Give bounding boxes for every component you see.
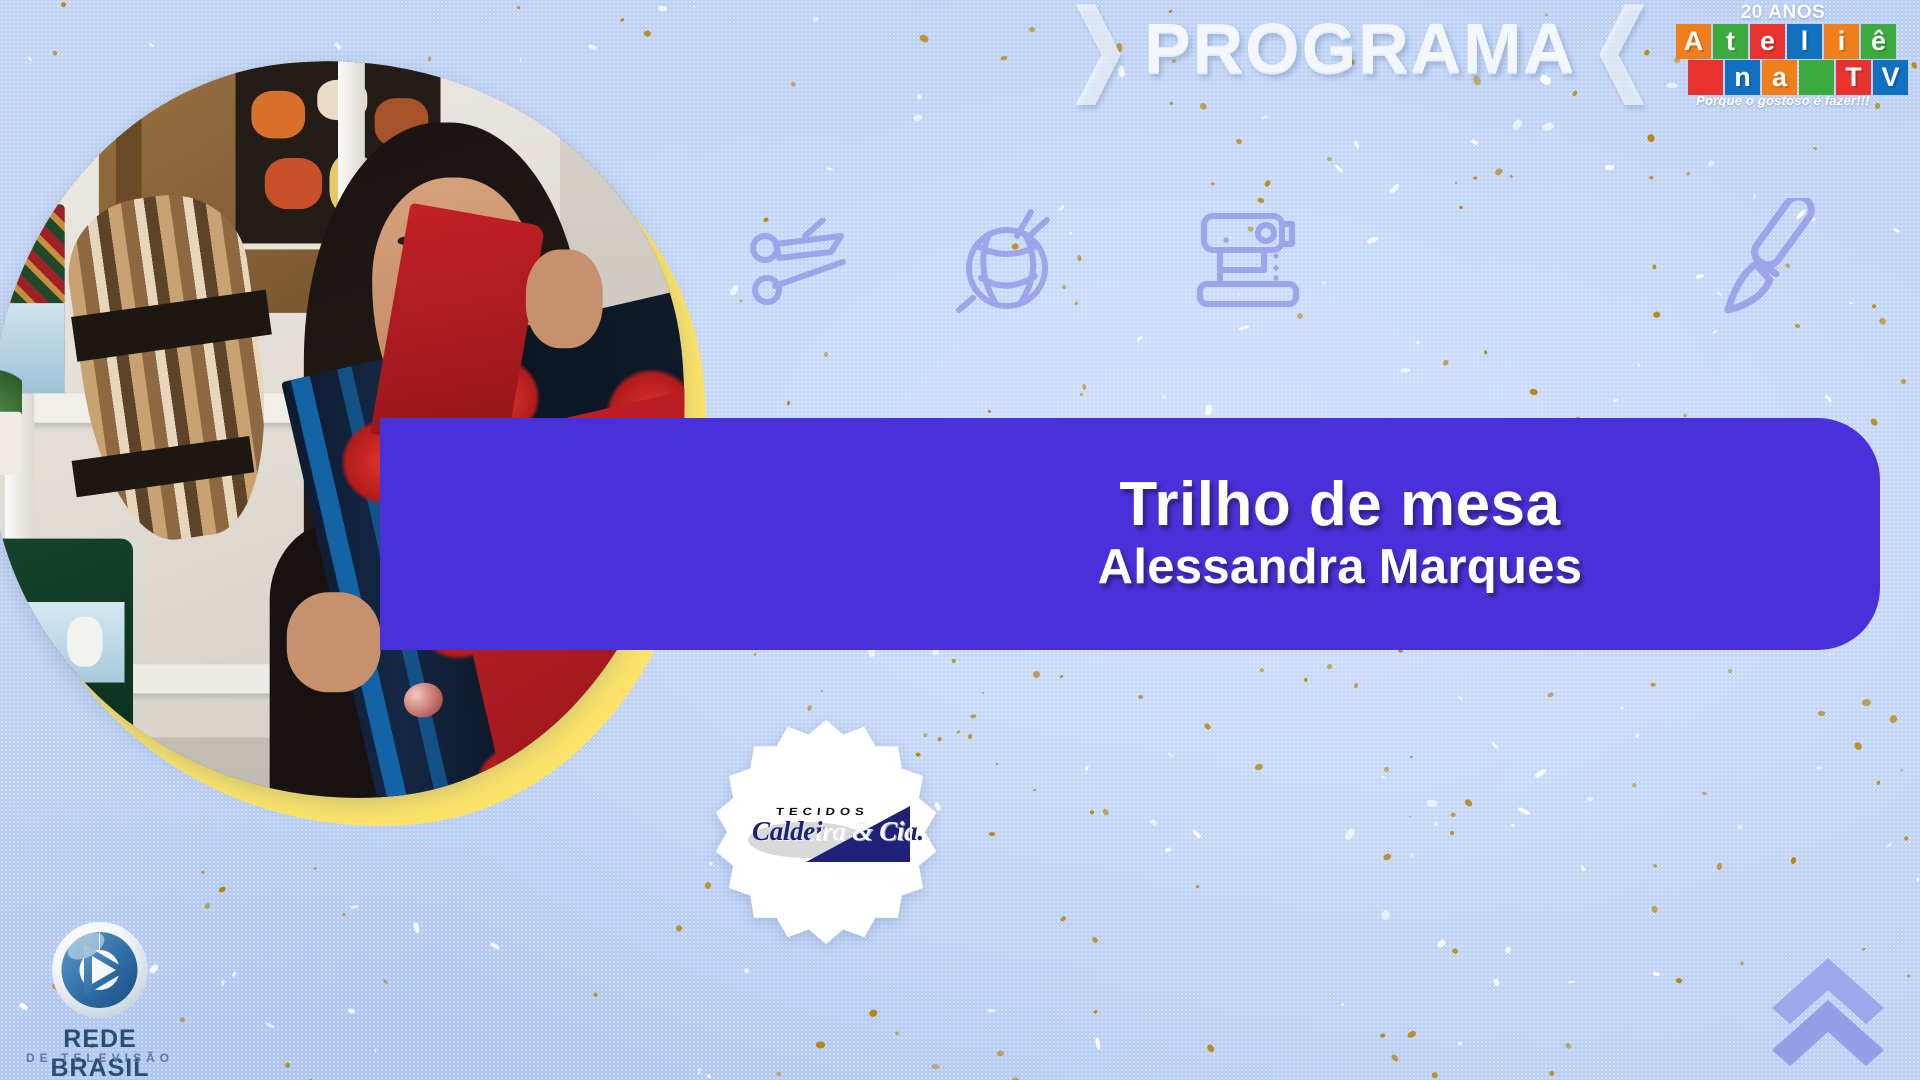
rede-brasil-logo: REDE BRASIL DE TELEVISÃO (10, 920, 210, 1070)
chevron-double-up-icon (1758, 952, 1898, 1072)
logo-tile-row2-2: a (1762, 60, 1797, 95)
slide-canvas: ❯ PROGRAMA ❮ 20 ANOS Ateliê naTV Porque … (0, 0, 1920, 1080)
title-banner: Trilho de mesa Alessandra Marques (380, 418, 1880, 650)
logo-tagline: Porque o gostoso é fazer!!! (1658, 93, 1908, 108)
logo-tile-row1-4: i (1824, 24, 1859, 59)
program-label: PROGRAMA (1144, 8, 1576, 88)
logo-tile-row2-5: V (1873, 60, 1908, 95)
yarn-ball-icon (955, 206, 1065, 321)
logo-tile-row1-2: e (1750, 24, 1785, 59)
logo-row-bottom: naTV (1688, 60, 1908, 95)
paintbrush-icon (1720, 198, 1820, 323)
logo-tile-row1-3: l (1787, 24, 1822, 59)
atelie-na-tv-logo: 20 ANOS Ateliê naTV Porque o gostoso é f… (1658, 4, 1908, 108)
network-subtitle: DE TELEVISÃO (10, 1051, 190, 1065)
logo-tile-row1-1: t (1713, 24, 1748, 59)
presenter-name: Alessandra Marques (1098, 540, 1583, 595)
page-title: Trilho de mesa (1119, 473, 1560, 537)
logo-tile-row1-0: A (1676, 24, 1711, 59)
chevron-right-icon: ❯ (1066, 0, 1130, 97)
sewing-machine-icon (1192, 208, 1304, 317)
logo-tile-row2-4: T (1836, 60, 1871, 95)
logo-tile-row2-3 (1799, 60, 1834, 95)
program-header: ❯ PROGRAMA ❮ (1060, 2, 1660, 94)
logo-row-top: Ateliê (1676, 24, 1896, 59)
anniversary-label: 20 ANOS (1658, 2, 1908, 24)
logo-tile-row2-1: n (1725, 60, 1760, 95)
logo-tile-row1-5: ê (1861, 24, 1896, 59)
sponsor-badge: TECIDOS Caldeira & Cia. Caldeira & Cia. (712, 718, 940, 946)
scissors-icon (745, 218, 855, 313)
chevron-left-icon: ❮ (1590, 0, 1654, 97)
sponsor-logo: TECIDOS Caldeira & Cia. Caldeira & Cia. (746, 802, 910, 864)
logo-tile-row2-0 (1688, 60, 1723, 95)
play-button-icon (46, 920, 154, 1024)
